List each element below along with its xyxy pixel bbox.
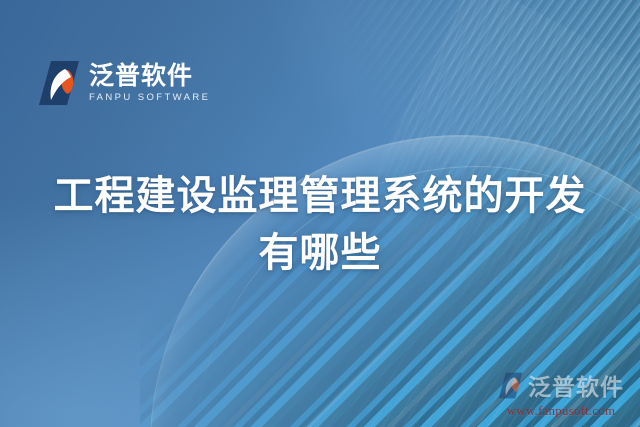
watermark-brand-name: 泛普软件	[528, 368, 624, 402]
watermark-fanpu-hexagon-logo-icon	[498, 372, 523, 399]
banner-image: 泛普软件 FANPU SOFTWARE 工程建设监理管理系统的开发 有哪些 泛普…	[0, 0, 640, 427]
headline-line-1: 工程建设监理管理系统的开发	[0, 168, 640, 225]
brand-logo: 泛普软件 FANPU SOFTWARE	[38, 60, 210, 106]
headline-line-2: 有哪些	[0, 225, 640, 282]
watermark-brand-row: 泛普软件	[488, 368, 634, 402]
watermark: 泛普软件 www.fanpusoft.com	[488, 368, 634, 419]
brand-name-en: FANPU SOFTWARE	[89, 93, 210, 103]
fanpu-hexagon-logo-icon	[38, 60, 80, 106]
brand-wordmark: 泛普软件 FANPU SOFTWARE	[89, 63, 210, 103]
headline: 工程建设监理管理系统的开发 有哪些	[0, 168, 640, 282]
watermark-url: www.fanpusoft.com	[488, 403, 634, 419]
brand-name-cn: 泛普软件	[89, 63, 210, 88]
